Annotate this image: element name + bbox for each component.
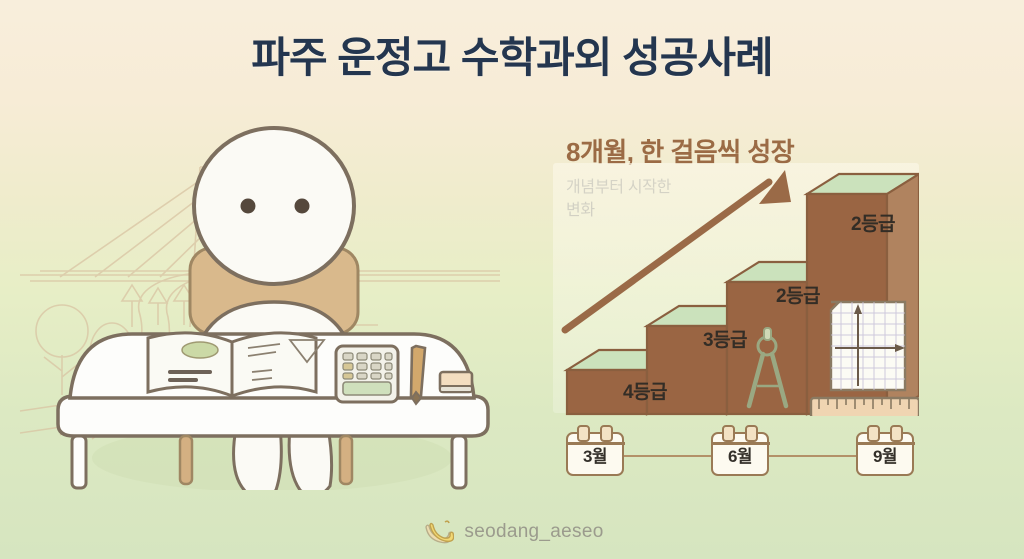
eye-left — [241, 199, 256, 214]
banana-icon — [420, 519, 454, 545]
calendar-label: 6월 — [728, 442, 752, 467]
student-desk-illustration — [40, 110, 500, 490]
graph-paper-icon — [831, 302, 905, 390]
calendar-september[interactable]: 9월 — [856, 432, 914, 476]
account-handle: seodang_aeseo — [464, 521, 603, 543]
calendar-march[interactable]: 3월 — [566, 432, 624, 476]
step-label-1: 4등급 — [623, 377, 667, 404]
open-book — [148, 333, 324, 396]
highlight-mark — [182, 342, 218, 358]
footer-branding: seodang_aeseo — [0, 519, 1024, 545]
infographic-canvas: 파주 운정고 수학과외 성공사례 — [0, 0, 1024, 559]
calendar-ribbon — [566, 442, 625, 445]
calendar-label: 9월 — [873, 442, 897, 467]
growth-staircase-chart — [553, 160, 919, 416]
page-title: 파주 운정고 수학과외 성공사례 — [0, 24, 1024, 85]
step-label-3: 2등급 — [776, 281, 820, 308]
calculator — [336, 346, 398, 402]
ruler-icon — [811, 398, 919, 416]
calendar-ribbon — [856, 442, 915, 445]
calendar-ribbon — [711, 442, 770, 445]
calendar-label: 3월 — [583, 442, 607, 467]
step-label-4: 2등급 — [851, 209, 895, 236]
eye-right — [295, 199, 310, 214]
calculator-display — [343, 382, 391, 395]
eraser — [440, 372, 472, 392]
step-label-2: 3등급 — [703, 325, 747, 352]
calendar-june[interactable]: 6월 — [711, 432, 769, 476]
